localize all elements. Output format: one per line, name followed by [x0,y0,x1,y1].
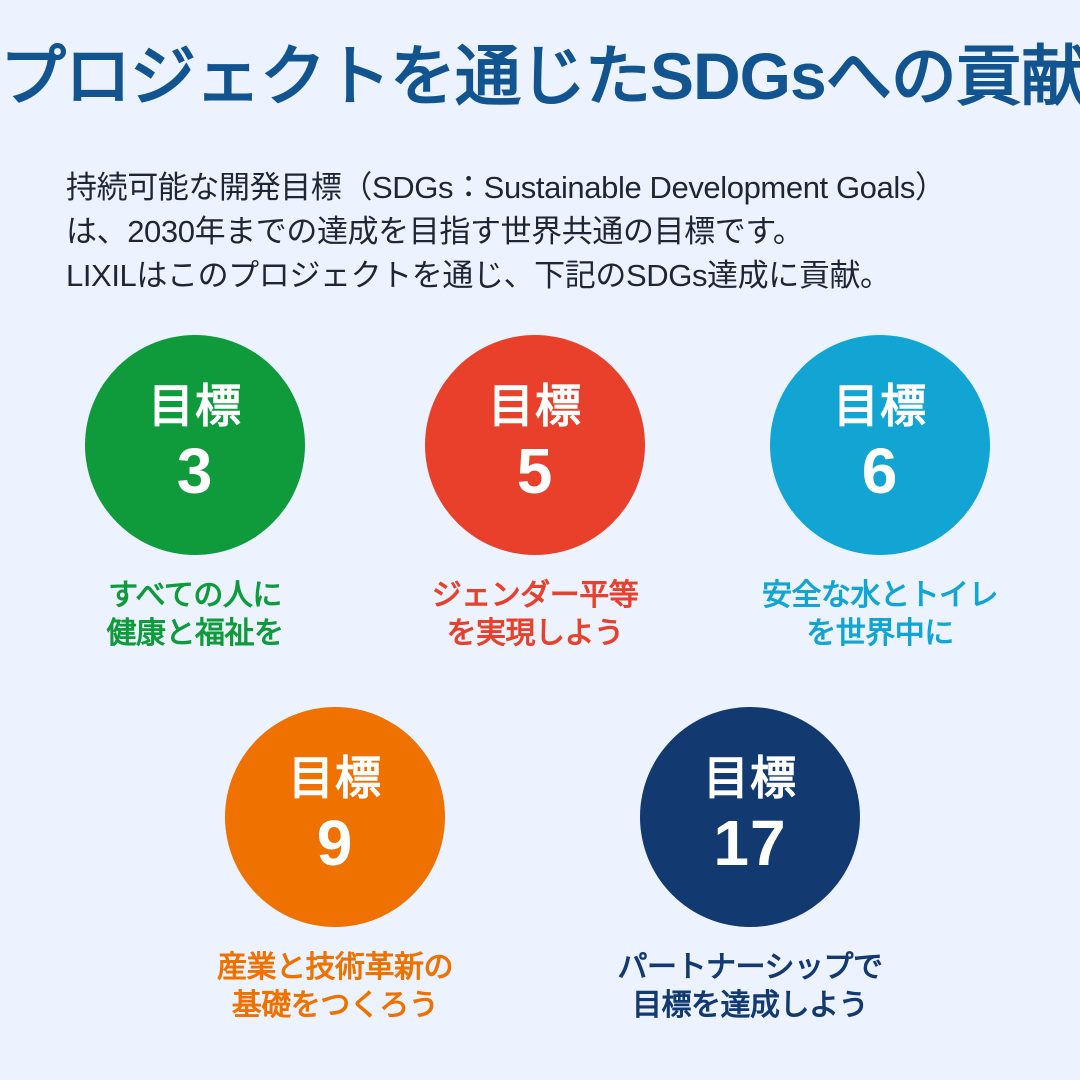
goal-badge-word-6: 目標 [833,383,927,429]
goal-label-9: 産業と技術革新の 基礎をつくろう [195,949,475,1026]
goal-card-17: 目標 17 パートナーシップで 目標を達成しよう [610,707,890,1026]
goal-label-9-line-2: 基礎をつくろう [195,987,475,1025]
goal-label-5-line-2: を実現しよう [395,615,675,653]
intro-line-2: は、2030年までの達成を目指す世界共通の目標です。 [66,210,1066,254]
goal-circle-3: 目標 3 [85,335,305,555]
goal-label-3-line-2: 健康と福祉を [55,615,335,653]
intro-line-1: 持続可能な開発目標（SDGs：Sustainable Development G… [66,166,1066,210]
goal-label-6: 安全な水とトイレ を世界中に [740,577,1020,654]
page-title: プロジェクトを通じたSDGsへの貢献 [0,40,1080,114]
sdgs-infographic: プロジェクトを通じたSDGsへの貢献 持続可能な開発目標（SDGs：Sustai… [0,0,1080,1080]
goal-label-17: パートナーシップで 目標を達成しよう [610,949,890,1026]
goal-label-6-line-1: 安全な水とトイレ [740,577,1020,615]
goal-badge-word-9: 目標 [288,755,382,801]
goal-number-5: 5 [517,439,554,503]
goal-circle-9: 目標 9 [225,707,445,927]
goal-number-9: 9 [317,811,354,875]
goal-label-3-line-1: すべての人に [55,577,335,615]
goal-label-9-line-1: 産業と技術革新の [195,949,475,987]
goal-label-5: ジェンダー平等 を実現しよう [395,577,675,654]
goal-card-9: 目標 9 産業と技術革新の 基礎をつくろう [195,707,475,1026]
goal-label-17-line-1: パートナーシップで [610,949,890,987]
goal-circle-6: 目標 6 [770,335,990,555]
goal-card-3: 目標 3 すべての人に 健康と福祉を [55,335,335,654]
goal-label-3: すべての人に 健康と福祉を [55,577,335,654]
goal-badge-word-5: 目標 [488,383,582,429]
goal-circle-5: 目標 5 [425,335,645,555]
goal-circle-17: 目標 17 [640,707,860,927]
goal-card-5: 目標 5 ジェンダー平等 を実現しよう [395,335,675,654]
goal-number-6: 6 [862,439,899,503]
goal-number-3: 3 [177,439,214,503]
goal-card-6: 目標 6 安全な水とトイレ を世界中に [740,335,1020,654]
goal-badge-word-3: 目標 [148,383,242,429]
goal-label-5-line-1: ジェンダー平等 [395,577,675,615]
intro-paragraph: 持続可能な開発目標（SDGs：Sustainable Development G… [66,166,1066,298]
intro-line-3: LIXILはこのプロジェクトを通じ、下記のSDGs達成に貢献。 [66,254,1066,298]
goal-number-17: 17 [713,811,786,875]
goal-label-6-line-2: を世界中に [740,615,1020,653]
goal-label-17-line-2: 目標を達成しよう [610,987,890,1025]
goal-badge-word-17: 目標 [703,755,797,801]
